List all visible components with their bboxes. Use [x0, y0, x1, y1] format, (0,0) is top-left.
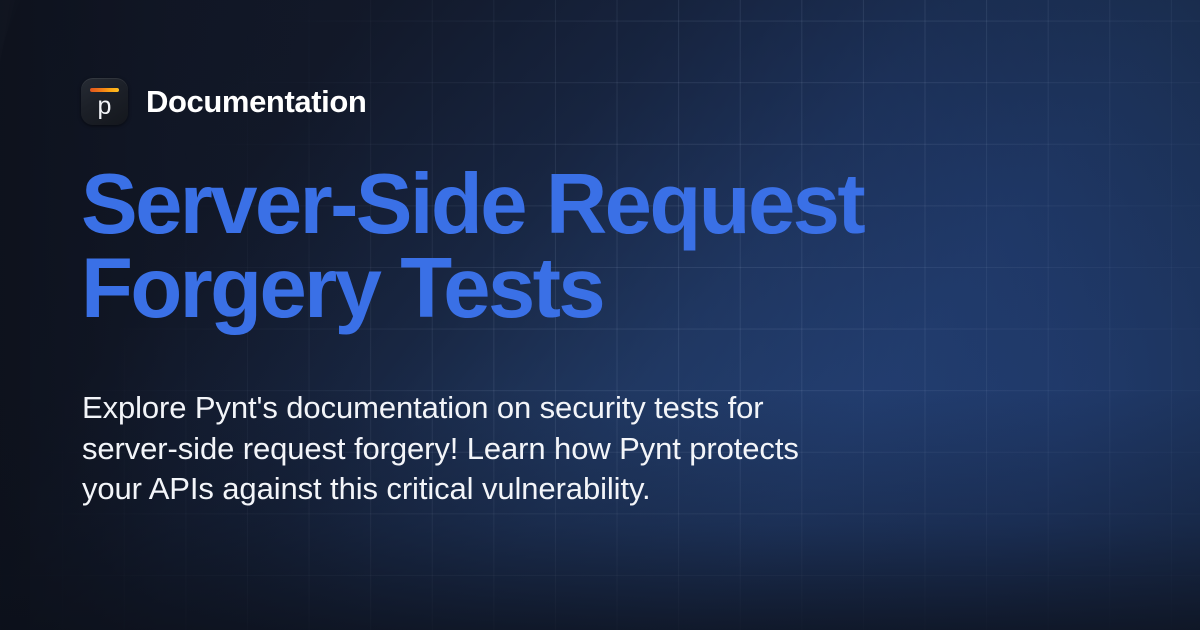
brand-title: Documentation	[146, 86, 366, 117]
brand-row: p Documentation	[81, 78, 366, 125]
pynt-logo-icon: p	[81, 78, 128, 125]
logo-letter-p: p	[81, 94, 128, 119]
card-content: p Documentation Server-Side Request Forg…	[81, 0, 1121, 630]
page-title: Server-Side Request Forgery Tests	[81, 163, 1041, 331]
page-description: Explore Pynt's documentation on security…	[82, 388, 852, 510]
og-preview-card: p Documentation Server-Side Request Forg…	[0, 0, 1200, 630]
